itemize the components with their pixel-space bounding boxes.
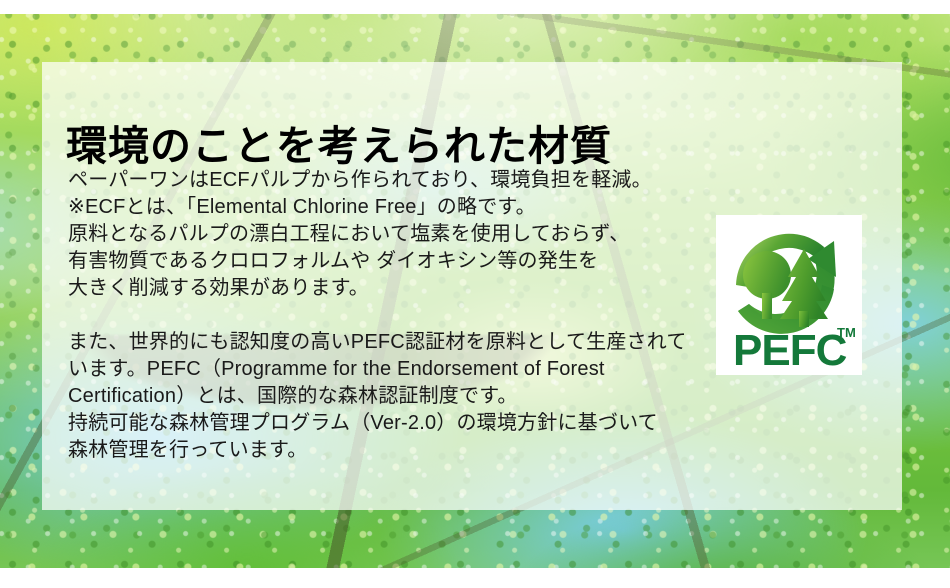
logo-trademark-symbol: TM [837,325,856,340]
promo-banner: 環境のことを考えられた材質 ペーパーワンはECFパルプから作られており、環境負担… [0,0,950,588]
pefc-logo: PEFC TM [716,215,862,375]
body-line: 有害物質であるクロロフォルムや ダイオキシン等の発生を [68,250,598,272]
body-line: います。PEFC（Programme for the Endorsement o… [68,358,605,380]
paragraph-spacer [68,302,688,329]
body-line: 原料となるパルプの漂白工程において塩素を使用しておらず、 [68,223,629,245]
body-line: ※ECFとは、「Elemental Chlorine Free」の略です。 [68,196,536,218]
logo-wordmark: PEFC [733,326,847,375]
body-line: 持続可能な森林管理プログラム（Ver-2.0）の環境方針に基づいて [68,412,658,434]
body-line: Certification）とは、国際的な森林認証制度です。 [68,385,518,407]
body-line: また、世界的にも認知度の高いPEFC認証材を原料として生産されて [68,331,687,353]
body-line: ペーパーワンはECFパルプから作られており、環境負担を軽減。 [68,169,652,191]
body-line: 大きく削減する効果があります。 [68,277,369,299]
paragraph-pefc: また、世界的にも認知度の高いPEFC認証材を原料として生産されて います。PEF… [68,329,688,464]
page-title: 環境のことを考えられた材質 [66,123,612,170]
body-copy: ペーパーワンはECFパルプから作られており、環境負担を軽減。 ※ECFとは、「E… [68,167,688,464]
paragraph-eco-pulp: ペーパーワンはECFパルプから作られており、環境負担を軽減。 ※ECFとは、「E… [68,167,688,302]
body-line: 森林管理を行っています。 [68,439,307,461]
